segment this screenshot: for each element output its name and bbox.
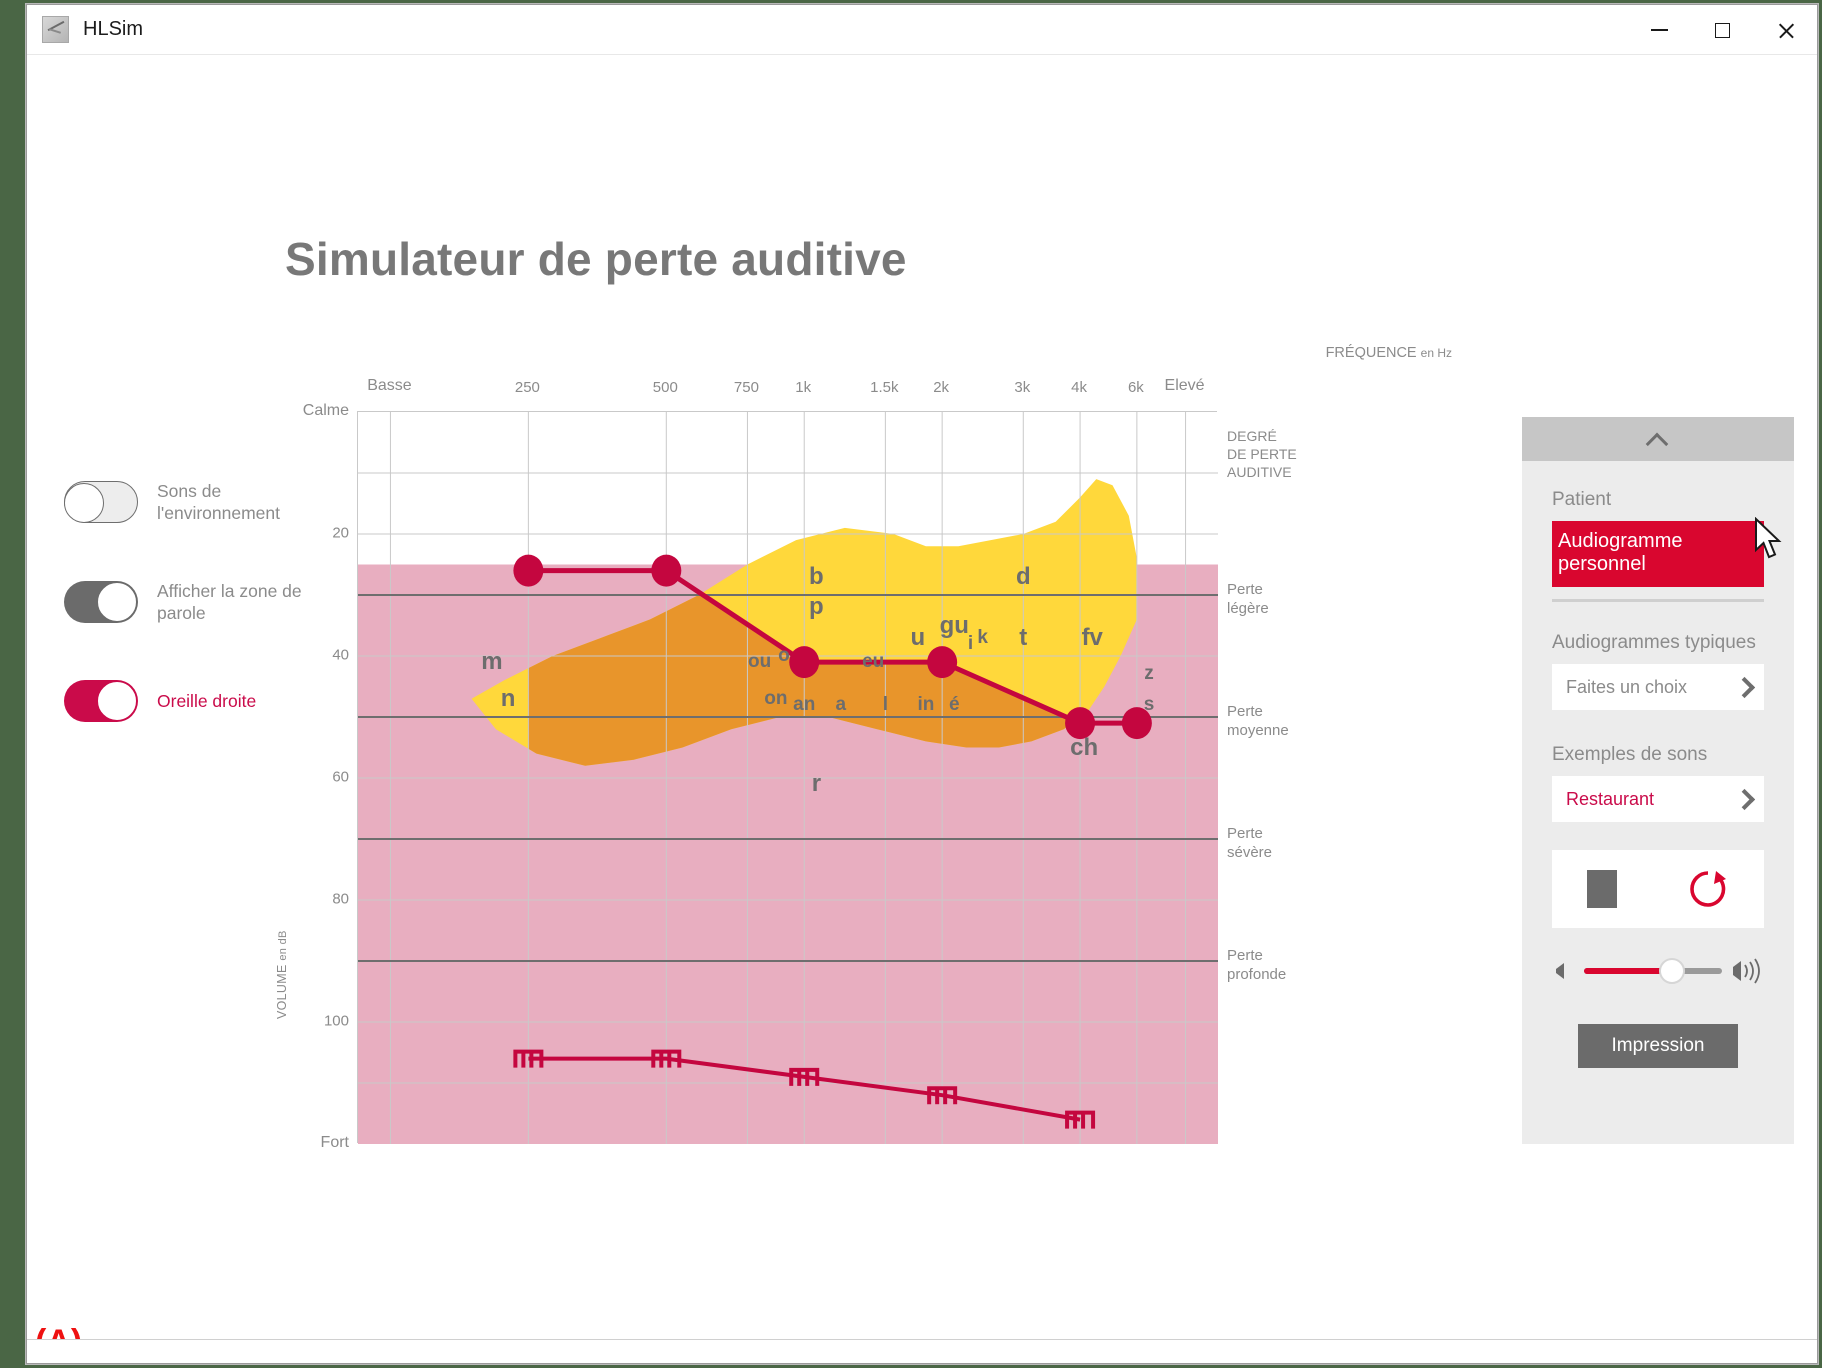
chevron-right-icon: [1734, 678, 1752, 696]
sound-examples-label: Exemples de sons: [1552, 744, 1764, 766]
y-tick-100: 100: [324, 1013, 349, 1030]
typical-audiograms-select[interactable]: Faites un choix: [1552, 664, 1764, 710]
x-tick-Elevé: Elevé: [1165, 377, 1205, 395]
typical-audiograms-value: Faites un choix: [1566, 677, 1687, 698]
y-tick-80: 80: [332, 891, 349, 908]
speech-letter: p: [809, 593, 824, 621]
severity-label-line: profonde: [1227, 965, 1286, 984]
speech-letter: r: [812, 770, 821, 798]
x-tick-500: 500: [653, 379, 678, 396]
divider: [1552, 599, 1764, 602]
severity-label: Pertelégère: [1227, 580, 1269, 618]
close-button[interactable]: [1754, 5, 1817, 55]
application-window: HLSim Simulateur de perte auditive Sons …: [26, 4, 1818, 1364]
x-axis-title-main: FRÉQUENCE: [1326, 345, 1417, 361]
x-tick-1.5k: 1.5k: [870, 379, 898, 396]
page-title: Simulateur de perte auditive: [285, 232, 907, 286]
severity-zone-labels: DEGRÉDE PERTEAUDITIVEPertelégèrePertemoy…: [1227, 411, 1367, 1143]
speech-letter: on: [764, 688, 787, 710]
y-tick-20: 20: [332, 525, 349, 542]
speech-letter: a: [835, 694, 846, 716]
speech-letter: in: [917, 694, 934, 716]
toggle-environment-sounds[interactable]: [64, 481, 138, 523]
typical-audiograms-label: Audiogrammes typiques: [1552, 632, 1764, 654]
x-tick-2k: 2k: [933, 379, 949, 396]
speech-sound-letters: mnbpouoonanalinéeuuguiktdfvzsrch: [358, 412, 1217, 1143]
speech-letter: gu: [940, 612, 969, 640]
severity-label-line: moyenne: [1227, 721, 1289, 740]
y-axis-title: VOLUME en dB: [275, 930, 289, 1019]
maximize-icon: [1715, 23, 1730, 38]
chevron-up-icon: [1647, 428, 1669, 450]
volume-slider-handle[interactable]: [1659, 958, 1685, 984]
speech-letter: é: [949, 694, 960, 716]
toggle-row-right-ear[interactable]: Oreille droite: [64, 680, 314, 722]
hlsim-icon: [42, 16, 69, 43]
status-bar: [27, 1339, 1817, 1363]
speech-letter: fv: [1082, 624, 1103, 652]
x-tick-250: 250: [515, 379, 540, 396]
window-title: HLSim: [83, 18, 143, 41]
speech-letter: eu: [862, 651, 884, 673]
speech-letter: k: [977, 627, 988, 649]
window-controls: [1628, 5, 1817, 55]
volume-slider-row: [1552, 958, 1764, 984]
main-content: Simulateur de perte auditive Sons de l'e…: [27, 55, 1817, 1363]
severity-label: Pertemoyenne: [1227, 702, 1289, 740]
sidebar-body: Patient Audiogramme personnel Audiogramm…: [1522, 461, 1794, 1068]
maximize-button[interactable]: [1691, 5, 1754, 55]
x-tick-750: 750: [734, 379, 759, 396]
severity-label-line: DEGRÉ: [1227, 427, 1297, 445]
plot-area[interactable]: mnbpouoonanalinéeuuguiktdfvzsrch: [357, 411, 1217, 1143]
toggle-speech-zone[interactable]: [64, 581, 138, 623]
speech-letter: u: [910, 624, 925, 652]
close-icon: [1777, 22, 1794, 39]
replay-svg: [1686, 867, 1730, 911]
speech-letter: ch: [1070, 734, 1098, 762]
severity-label-line: DE PERTE: [1227, 445, 1297, 463]
minimize-icon: [1651, 29, 1668, 31]
y-axis-title-unit: en dB: [277, 930, 289, 960]
speech-letter: b: [809, 563, 824, 591]
toggle-knob: [64, 483, 104, 523]
speech-letter: l: [883, 694, 888, 716]
severity-label-line: légère: [1227, 599, 1269, 618]
x-tick-1k: 1k: [795, 379, 811, 396]
y-tick-Fort: Fort: [321, 1134, 349, 1152]
severity-label-line: Perte: [1227, 580, 1269, 599]
title-bar: HLSim: [27, 5, 1817, 55]
severity-label: Pertesévère: [1227, 824, 1272, 862]
volume-high-icon: [1730, 958, 1764, 984]
speech-letter: z: [1144, 663, 1154, 685]
y-tick-60: 60: [332, 769, 349, 786]
sound-examples-select[interactable]: Restaurant: [1552, 776, 1764, 822]
toggle-row-speech-zone[interactable]: Afficher la zone de parole: [64, 580, 314, 624]
minimize-button[interactable]: [1628, 5, 1691, 55]
x-tick-4k: 4k: [1071, 379, 1087, 396]
sidebar-collapse-button[interactable]: [1522, 417, 1794, 461]
patient-section-label: Patient: [1552, 489, 1764, 511]
speech-letter: an: [793, 694, 815, 716]
speech-letter: t: [1019, 624, 1027, 652]
x-axis-title-unit: en Hz: [1421, 346, 1452, 360]
y-tick-40: 40: [332, 647, 349, 664]
print-button[interactable]: Impression: [1578, 1024, 1739, 1068]
severity-label-line: sévère: [1227, 843, 1272, 862]
toggle-row-environment-sounds[interactable]: Sons de l'environnement: [64, 480, 314, 524]
y-tick-Calme: Calme: [303, 402, 349, 420]
x-tick-6k: 6k: [1128, 379, 1144, 396]
x-axis-title: FRÉQUENCE en Hz: [1326, 345, 1452, 361]
toggle-label-speech-zone: Afficher la zone de parole: [157, 580, 307, 624]
toggle-label-environment-sounds: Sons de l'environnement: [157, 480, 307, 524]
toggle-right-ear[interactable]: [64, 680, 138, 722]
severity-label-line: Perte: [1227, 824, 1272, 843]
speech-letter: n: [501, 685, 516, 713]
toggle-knob: [97, 681, 137, 721]
stop-icon[interactable]: [1587, 870, 1617, 908]
severity-label: DEGRÉDE PERTEAUDITIVE: [1227, 427, 1297, 481]
audiogram-chart: FRÉQUENCE en Hz Basse2505007501k1.5k2k3k…: [297, 345, 1487, 1175]
x-tick-3k: 3k: [1014, 379, 1030, 396]
x-tick-Basse: Basse: [367, 377, 411, 395]
volume-slider[interactable]: [1584, 968, 1722, 974]
speech-letter: o: [778, 645, 790, 667]
severity-label: Perteprofonde: [1227, 946, 1286, 984]
speech-letter: s: [1144, 694, 1155, 716]
speech-letter: i: [968, 633, 973, 655]
toggle-label-right-ear: Oreille droite: [157, 690, 256, 712]
severity-label-line: Perte: [1227, 946, 1286, 965]
y-axis-title-main: VOLUME: [275, 964, 289, 1019]
x-axis-tick-labels: Basse2505007501k1.5k2k3k4k6kElevé: [297, 379, 1487, 403]
personal-audiogram-button[interactable]: Audiogramme personnel: [1552, 521, 1764, 587]
toggle-group: Sons de l'environnement Afficher la zone…: [64, 480, 314, 778]
chevron-right-icon: [1734, 790, 1752, 808]
speech-letter: d: [1016, 563, 1031, 591]
speech-letter: ou: [748, 651, 771, 673]
severity-label-line: Perte: [1227, 702, 1289, 721]
toggle-knob: [97, 582, 137, 622]
playback-controls: [1552, 850, 1764, 928]
sound-examples-value: Restaurant: [1566, 789, 1654, 810]
speech-letter: m: [481, 648, 502, 676]
volume-low-icon: [1552, 959, 1576, 983]
severity-label-line: AUDITIVE: [1227, 463, 1297, 481]
control-sidebar: Patient Audiogramme personnel Audiogramm…: [1522, 417, 1794, 1144]
replay-icon[interactable]: [1686, 867, 1730, 911]
y-axis-tick-labels: Calme20406080100Fort: [297, 411, 355, 1143]
